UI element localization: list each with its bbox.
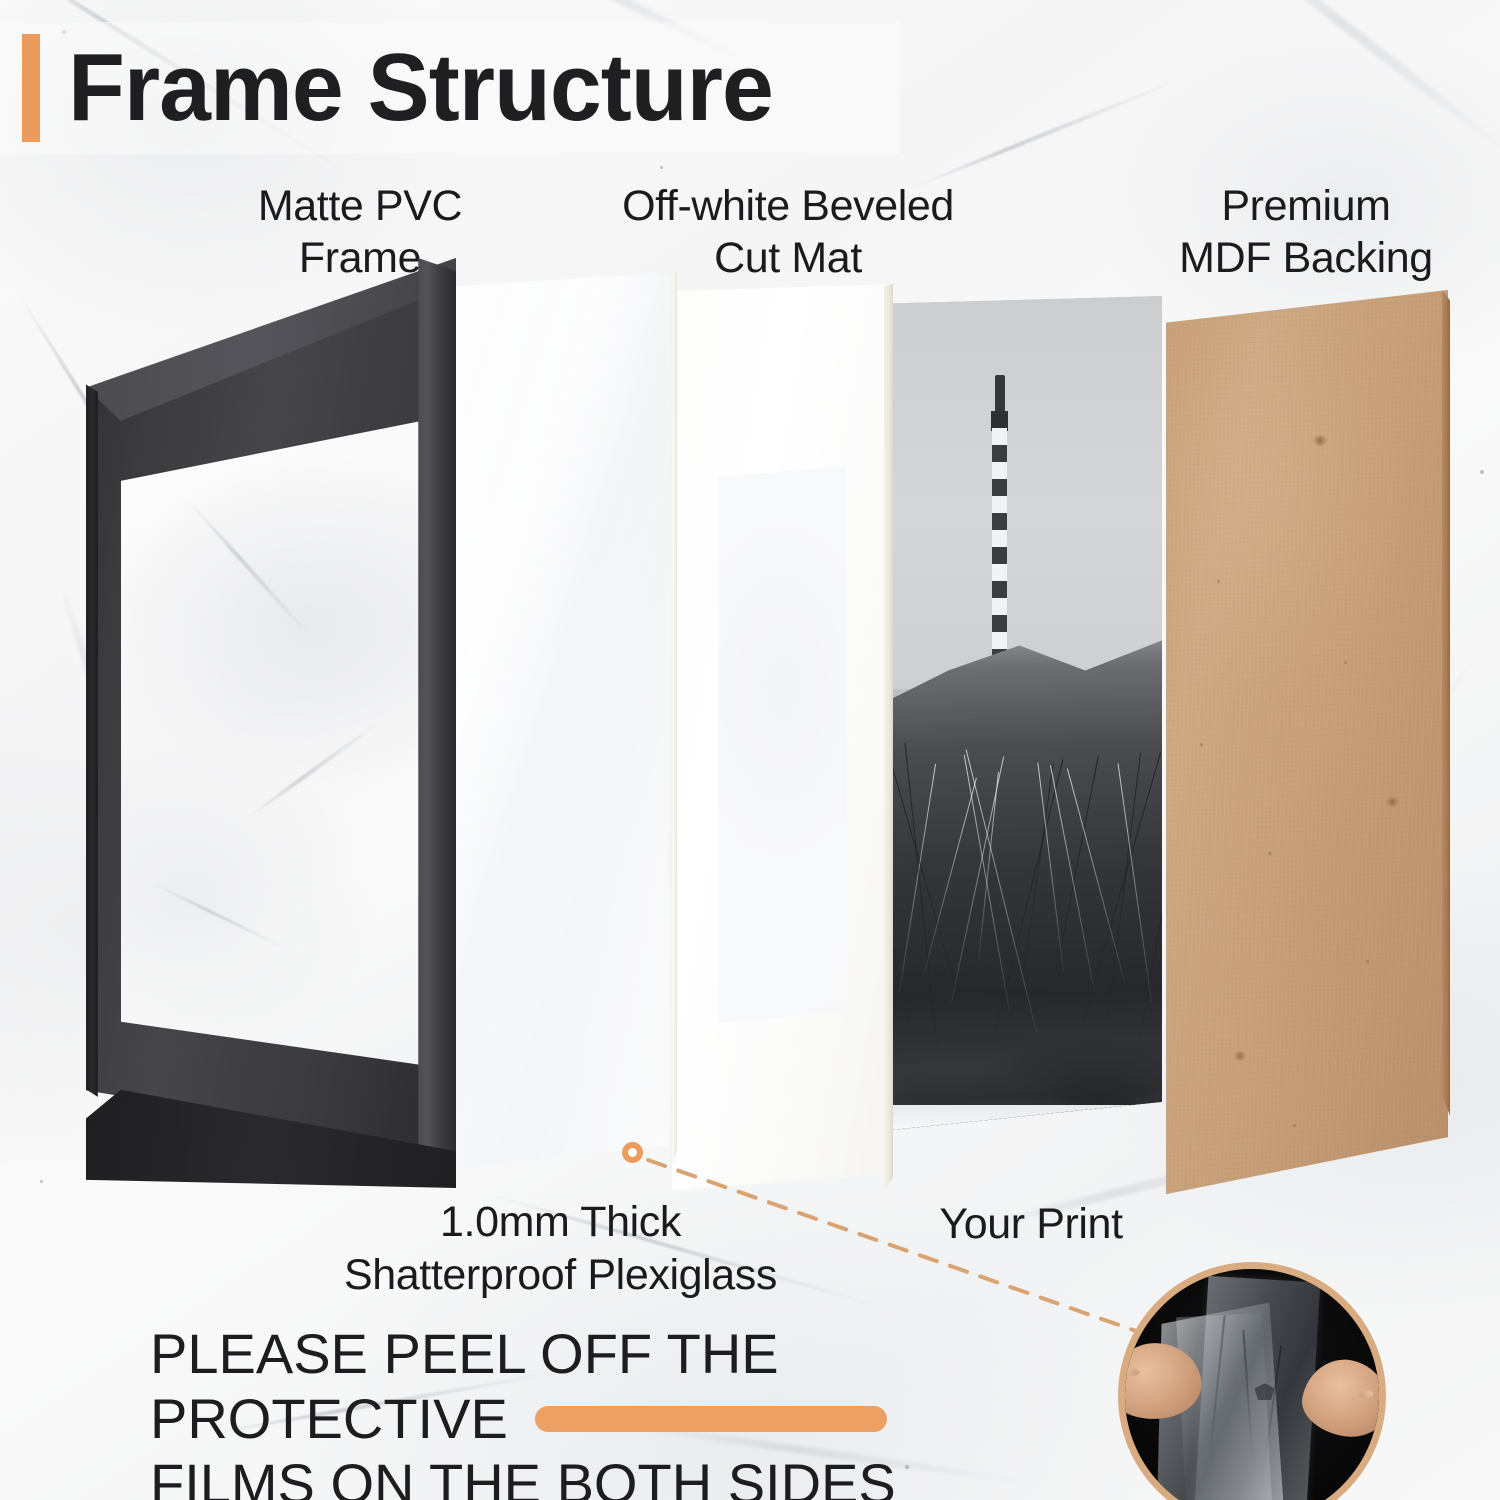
dune-grass (888, 630, 1162, 1132)
layer-your-print (888, 296, 1162, 1132)
layer-pvc-frame (86, 258, 456, 1188)
grass-blade (899, 764, 936, 992)
marble-vein (186, 499, 314, 641)
mat-side-edge (884, 284, 893, 1194)
layer-mdf-backing (1166, 290, 1448, 1196)
print-bottom-edge (888, 1105, 1162, 1132)
mdf-fleck (1293, 1124, 1296, 1127)
mdf-knot (1386, 797, 1399, 807)
frame-left-stile (86, 258, 98, 1188)
grass-blade (966, 749, 1037, 1032)
mdf-fleck (1217, 580, 1220, 583)
mat-window-opening (718, 466, 846, 1026)
frame-aperture (121, 421, 423, 1089)
mdf-side-edge (1442, 290, 1450, 1150)
callout-origin-marker (622, 1142, 643, 1163)
mdf-fleck (1344, 661, 1347, 664)
peel-film-inset-photo (1118, 1262, 1386, 1500)
layer-plexiglass (452, 272, 674, 1172)
label-plexiglass: 1.0mm Thick Shatterproof Plexiglass (278, 1196, 843, 1303)
mdf-fleck (1200, 743, 1203, 746)
grass-blade (1049, 765, 1094, 992)
mdf-fleck (1268, 852, 1272, 855)
grass-blade (1022, 763, 1054, 982)
warning-text: PLEASE PEEL OFF THE PROTECTIVE FILMS ON … (150, 1322, 1080, 1500)
print-sky (888, 296, 1162, 689)
hand-right-thumb (1359, 1391, 1374, 1400)
mdf-grain-texture (1166, 290, 1448, 1196)
infographic-canvas: Frame Structure Matte PVC Frame Off-whit… (0, 0, 1500, 1500)
marble-vein (244, 719, 383, 821)
grass-blade (963, 755, 1009, 1012)
label-your-print: Your Print (886, 1198, 1176, 1251)
frame-right-stile (418, 258, 456, 1188)
warning-block: PLEASE PEEL OFF THE PROTECTIVE FILMS ON … (150, 1322, 1080, 1500)
grass-blade (924, 778, 977, 972)
grass-blade (1038, 762, 1065, 971)
marble-vein (152, 882, 289, 951)
grass-blade (905, 742, 939, 1051)
hand-left-thumb (1122, 1365, 1139, 1375)
mdf-knot (1234, 1051, 1246, 1061)
plexiglass-side-edge (670, 272, 677, 1174)
mdf-knot (1313, 435, 1327, 446)
mdf-fleck (1366, 960, 1369, 963)
